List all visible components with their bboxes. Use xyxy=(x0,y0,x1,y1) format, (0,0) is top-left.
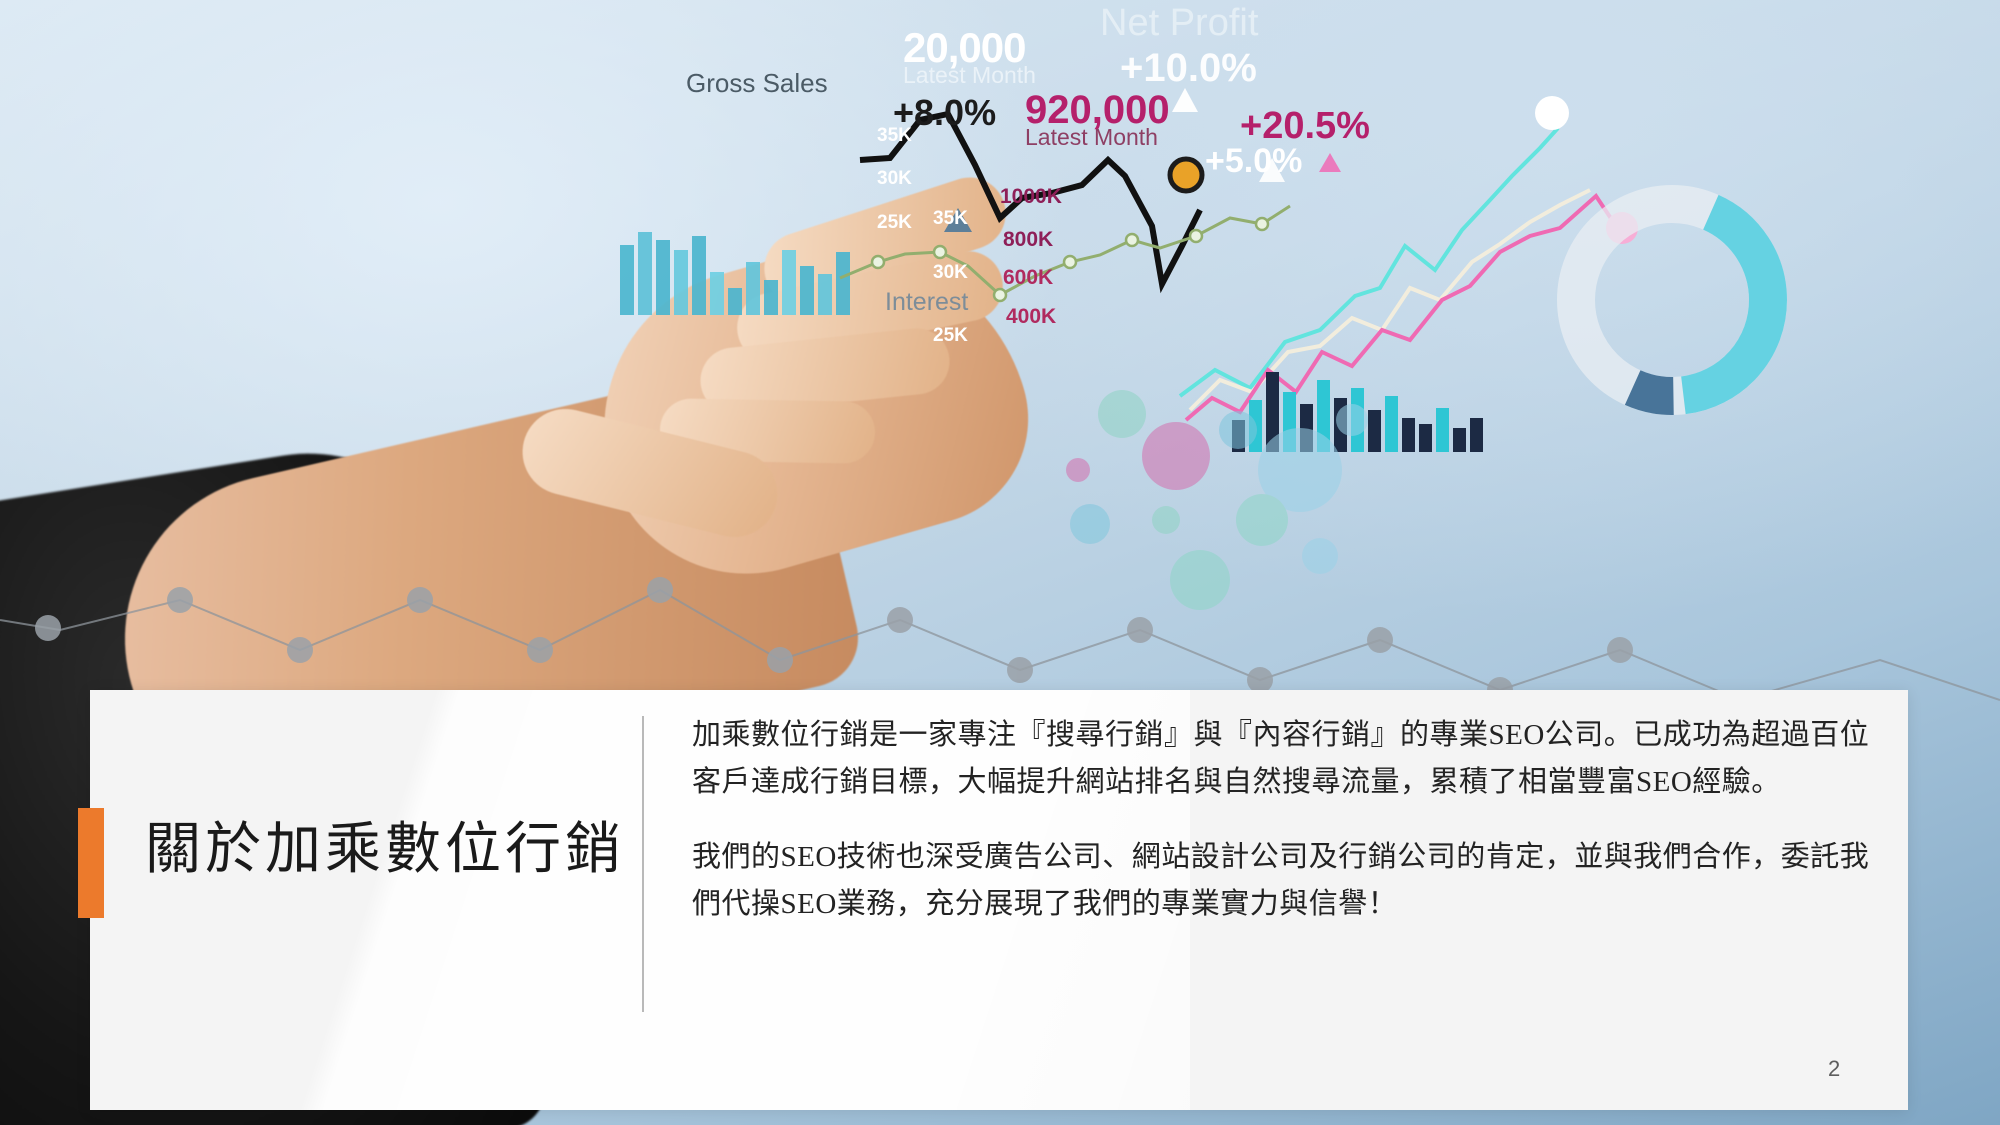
page-title: 關於加乘數位行銷 xyxy=(145,818,685,882)
title-body-divider xyxy=(642,716,644,1012)
axis-mid-35k: 35K xyxy=(933,208,968,230)
highlight-node xyxy=(1170,159,1202,191)
triangle-up-4 xyxy=(1319,153,1341,172)
slide-canvas: Gross Sales Interest Net Profit 20,000 L… xyxy=(0,0,2000,1125)
axis-left-30k: 30K xyxy=(877,168,912,190)
axis-mid-30k: 30K xyxy=(933,262,968,284)
axis-left-25k: 25K xyxy=(877,212,912,234)
axis-left-35k: 35K xyxy=(877,125,912,147)
content-panel: 關於加乘數位行銷 加乘數位行銷是一家專注『搜尋行銷』與『內容行銷』的專業SEO公… xyxy=(90,690,1908,1110)
body-paragraph-2: 我們的SEO技術也深受廣告公司、網站設計公司及行銷公司的肯定，並與我們合作，委託… xyxy=(692,834,1872,928)
axis-right-600k: 600K xyxy=(1003,266,1053,290)
axis-right-400k: 400K xyxy=(1006,305,1056,329)
triangle-up-2 xyxy=(1172,88,1198,112)
donut-chart xyxy=(1576,204,1768,396)
net-profit-node xyxy=(1535,96,1569,130)
axis-mid-25k: 25K xyxy=(933,325,968,347)
label-gross-sales: Gross Sales xyxy=(686,68,828,99)
page-number: 2 xyxy=(1828,1056,1840,1082)
pct-net-profit: +10.0% xyxy=(1120,46,1257,91)
body-paragraph-1: 加乘數位行銷是一家專注『搜尋行銷』與『內容行銷』的專業SEO公司。已成功為超過百… xyxy=(692,712,1872,806)
metric-caption-gross: Latest Month xyxy=(903,62,1036,89)
label-interest: Interest xyxy=(885,288,968,317)
label-net-profit: Net Profit xyxy=(1100,2,1258,45)
body-text: 加乘數位行銷是一家專注『搜尋行銷』與『內容行銷』的專業SEO公司。已成功為超過百… xyxy=(692,712,1872,928)
axis-right-1000k: 1000K xyxy=(1000,185,1062,209)
pct-secondary: +5.0% xyxy=(1205,142,1302,181)
bar-chart-small xyxy=(620,232,850,315)
axis-right-800k: 800K xyxy=(1003,228,1053,252)
accent-bar xyxy=(78,808,104,918)
metric-caption-profit: Latest Month xyxy=(1025,124,1158,151)
